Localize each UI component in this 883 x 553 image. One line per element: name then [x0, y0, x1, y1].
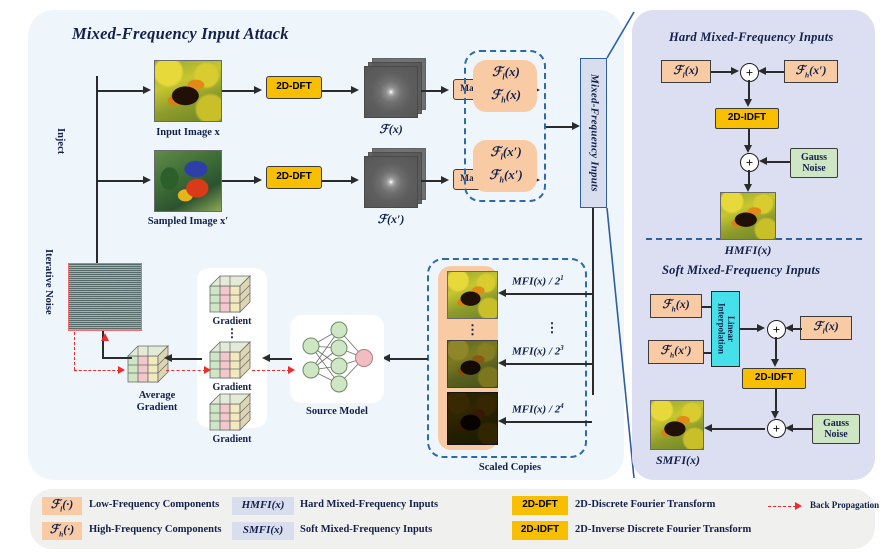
legend-backprop-text: Back Propagation: [810, 500, 879, 510]
backprop-arrow-1: [118, 366, 125, 374]
soft-high-freq-x-box[interactable]: ℱh(x): [650, 294, 702, 318]
soft-output-caption: SMFI(x): [638, 453, 718, 468]
legend-panel: [30, 489, 875, 549]
legend-hmfi-text: Hard Mixed-Frequency Inputs: [300, 499, 438, 510]
freq-symbol: ℱ: [492, 64, 502, 79]
hard-high-freq-label: ℱh(x′): [796, 64, 827, 79]
legend-dft-symbol: 2D-DFT: [512, 496, 568, 515]
soft-gauss-noise-label: Gauss Noise: [823, 418, 849, 441]
soft-arrow-interp-out: [757, 324, 765, 332]
mfi-exponent-2: 3: [560, 345, 563, 352]
scaled-copy-2: [447, 340, 498, 388]
soft-idft-box[interactable]: 2D-IDFT: [742, 368, 806, 389]
scaled-copy-1: [447, 271, 498, 319]
arrow-model-to-gradient: [262, 354, 270, 362]
soft-line-to-idft: [775, 337, 777, 361]
legend-backprop-arrow-icon: [795, 502, 802, 510]
mfi-exponent-1: 1: [560, 275, 563, 282]
average-gradient-cube: [124, 342, 186, 390]
soft-arrow-lowfreq-in: [785, 324, 793, 332]
line-spectrum-to-mask-1: [421, 90, 442, 92]
mfi-text-3: MFI(x) / 2: [512, 404, 560, 416]
hard-arrow-left-in: [731, 67, 739, 75]
gradient-label-3: Gradient: [200, 434, 264, 445]
soft-high-freq-xp-box[interactable]: ℱh(x′): [648, 340, 704, 364]
mfi-text-1: MFI(x) / 2: [512, 276, 560, 288]
inject-vertical-line: [96, 76, 98, 276]
soft-low-freq-label: ℱl(x): [813, 320, 839, 335]
soft-arrow-to-idft: [771, 359, 779, 367]
diagram-root: Mixed-Frequency Input Attack Inject Iter…: [0, 0, 883, 553]
soft-line-lowfreq-in: [792, 328, 802, 330]
freq-symbol: ℱ: [489, 167, 499, 182]
freq-low-xp-label: ℱl(x′): [478, 144, 534, 162]
hard-arrow-idft-to-plus2: [744, 145, 752, 153]
backprop-h2: [166, 370, 206, 371]
freq-high-x-label: ℱh(x): [481, 87, 531, 105]
inject-branch-1: [96, 90, 144, 92]
line-dft-to-spectrum-2: [322, 180, 352, 182]
average-gradient-label: Average Gradient: [112, 390, 202, 414]
soft-line-interp-out: [740, 328, 758, 330]
soft-panel-title: Soft Mixed-Frequency Inputs: [662, 263, 820, 278]
average-gradient-line2: Gradient: [137, 402, 178, 413]
iterative-noise-label: Iterative Noise: [42, 249, 54, 315]
scaled-copies-ellipsis: ⋮: [447, 322, 498, 338]
arrow-freq-to-mfi: [572, 122, 580, 130]
freq-arg: (x′): [503, 144, 522, 159]
spectrum-caption-2: ℱ(x′): [354, 212, 428, 227]
backprop-arrow-2: [204, 366, 211, 374]
source-model-label: Source Model: [288, 406, 386, 417]
legend-low-freq-symbol: ℱl(·): [42, 497, 82, 515]
mfi-arrow-1: [498, 289, 506, 297]
gradient-cube-3: [206, 390, 262, 434]
input-image-caption: Input Image x: [124, 127, 252, 138]
soft-output-image: [650, 400, 704, 450]
scaled-copy-3: [447, 392, 498, 445]
iterative-noise-image: [68, 263, 142, 331]
hard-arrow-to-idft: [744, 99, 752, 107]
mfi-arrow-2: [498, 359, 506, 367]
arrow-spectrum-to-mask-1: [441, 86, 449, 94]
scaled-copies-label: Scaled Copies: [440, 462, 580, 473]
inject-arrow-2: [143, 176, 151, 184]
legend-backprop-line: [768, 506, 796, 507]
freq-low-x-label: ℱl(x): [481, 64, 531, 82]
gradient-cube-2: [206, 338, 262, 382]
hard-line-noise-in: [767, 161, 790, 163]
soft-line-to-output: [712, 428, 765, 430]
hard-panel-title: Hard Mixed-Frequency Inputs: [669, 30, 833, 45]
input-image-thumbnail: [154, 60, 222, 122]
mfi-feed-vertical: [592, 208, 594, 395]
freq-high-xp-label: ℱh(x′): [478, 167, 534, 185]
linear-interpolation-box[interactable]: Linear Interpolation: [711, 291, 740, 367]
soft-arrow-to-output: [704, 424, 712, 432]
arrow-img-to-dft-1: [254, 86, 262, 94]
arrow-dft-to-spectrum-1: [351, 86, 359, 94]
line-model-to-gradient: [270, 358, 292, 360]
soft-high-freq-x-label: ℱh(x): [662, 298, 690, 313]
line-spectrum-to-mask-2: [421, 180, 442, 182]
inject-arrow-1: [143, 86, 151, 94]
dft-box-2[interactable]: 2D-DFT: [266, 166, 322, 189]
hard-arrow-noise-in: [759, 157, 767, 165]
spectrum-image-1: [364, 66, 418, 118]
spectrum-caption-1: ℱ(x): [358, 122, 424, 137]
backprop-arrow-noise: [101, 333, 109, 341]
arrow-spectrum-to-mask-2: [441, 176, 449, 184]
legend-dft-text: 2D-Discrete Fourier Transform: [575, 499, 715, 510]
hard-arrow-to-output: [744, 184, 752, 192]
hard-gauss-noise-label: Gauss Noise: [801, 152, 827, 175]
mfi-exponent-3: 4: [560, 403, 563, 410]
linear-interpolation-label: Linear Interpolation: [716, 292, 735, 366]
hard-output-image: [720, 192, 776, 240]
hard-line-to-idft: [748, 80, 750, 101]
line-freq-to-mfi: [546, 126, 573, 128]
sampled-image-thumbnail: [154, 150, 222, 212]
mfi-line-2: [506, 363, 592, 365]
soft-arrow-idft-to-plus2: [771, 411, 779, 419]
arrow-dft-to-spectrum-2: [351, 176, 359, 184]
hard-idft-box[interactable]: 2D-IDFT: [715, 108, 779, 129]
line-img-to-dft-2: [222, 180, 255, 182]
mfi-label-1: MFI(x) / 21: [512, 275, 592, 288]
neural-network-icon: [290, 315, 384, 403]
soft-low-freq-box[interactable]: ℱl(x): [800, 316, 852, 340]
hard-arrow-right-in: [758, 67, 766, 75]
hard-gauss-noise-box[interactable]: Gauss Noise: [790, 148, 838, 178]
legend-hmfi-symbol: HMFI(x): [232, 497, 294, 515]
mfi-ellipsis: ⋮: [512, 320, 592, 336]
freq-arg: (x′): [504, 167, 523, 182]
mfi-text-2: MFI(x) / 2: [512, 346, 560, 358]
soft-plus-node-2: +: [767, 419, 786, 438]
soft-line-noise-in: [792, 428, 813, 430]
spectrum-image-2: [364, 156, 418, 208]
mfi-line-3: [506, 421, 592, 423]
line-avg-to-up: [102, 357, 132, 359]
backprop-h1: [74, 370, 120, 371]
legend-smfi-text: Soft Mixed-Frequency Inputs: [300, 524, 432, 535]
legend-high-freq-text: High-Frequency Components: [89, 524, 222, 535]
arrow-img-to-dft-2: [254, 176, 262, 184]
mfi-arrow-3: [498, 417, 506, 425]
inject-branch-2: [96, 180, 144, 182]
dft-box-1[interactable]: 2D-DFT: [266, 76, 322, 99]
hard-line-left-in: [711, 71, 732, 73]
arrow-gradient-to-avg: [164, 354, 172, 362]
backprop-h3: [252, 370, 290, 371]
freq-arg: (x): [506, 87, 521, 102]
legend-low-freq-text: Low-Frequency Components: [89, 499, 219, 510]
hard-low-freq-box[interactable]: ℱl(x): [661, 60, 711, 83]
hard-output-caption: HMFI(x): [704, 243, 792, 258]
soft-gauss-noise-box[interactable]: Gauss Noise: [812, 414, 860, 444]
mfi-label-3: MFI(x) / 24: [512, 403, 592, 416]
hard-low-freq-label: ℱl(x): [673, 64, 699, 79]
soft-high-freq-xp-label: ℱh(x′): [661, 344, 692, 359]
hard-line-right-in: [766, 71, 784, 73]
mfi-label-2: MFI(x) / 23: [512, 345, 592, 358]
line-scaled-to-model: [390, 358, 428, 360]
gradient-cube-1: [206, 272, 262, 316]
soft-line-idft-to-plus2: [775, 389, 777, 413]
line-gradient-to-avg: [172, 358, 202, 360]
inject-label: Inject: [54, 128, 66, 154]
legend-high-freq-symbol: ℱh(·): [42, 522, 82, 540]
sampled-image-caption: Sampled Image x′: [120, 216, 256, 227]
legend-smfi-symbol: SMFI(x): [232, 522, 294, 540]
freq-arg: (x): [505, 64, 520, 79]
soft-arrow-noise-in: [785, 424, 793, 432]
average-gradient-line1: Average: [139, 390, 176, 401]
mfi-line-1: [506, 293, 592, 295]
backprop-arrow-3: [288, 366, 295, 374]
page-title: Mixed-Frequency Input Attack: [72, 24, 289, 44]
line-dft-to-spectrum-1: [322, 90, 352, 92]
freq-symbol: ℱ: [491, 87, 501, 102]
hard-high-freq-box[interactable]: ℱh(x′): [784, 60, 838, 83]
backprop-vertical: [74, 332, 75, 370]
legend-idft-symbol: 2D-IDFT: [512, 521, 568, 540]
freq-symbol: ℱ: [490, 144, 500, 159]
legend-idft-text: 2D-Inverse Discrete Fourier Transform: [575, 524, 751, 535]
line-img-to-dft-1: [222, 90, 255, 92]
